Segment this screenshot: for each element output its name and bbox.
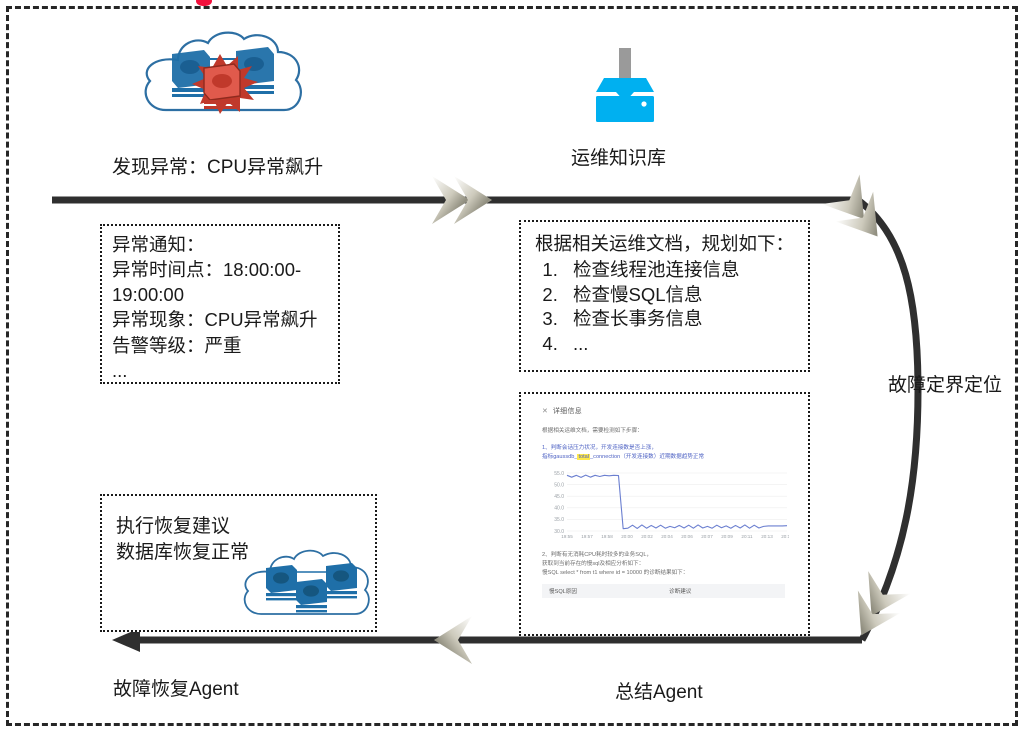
- svg-text:50.0: 50.0: [554, 483, 564, 489]
- alert-cloud-icon: [120, 26, 320, 146]
- plan-item: 检查线程池连接信息: [563, 258, 808, 283]
- alert-line-5: 告警等级：严重: [112, 333, 330, 358]
- svg-text:20:07: 20:07: [701, 534, 713, 539]
- svg-text:19:58: 19:58: [601, 534, 613, 539]
- detail-paragraph-3-line3: 慢SQL select * from t1 where id = 10000 的…: [542, 569, 802, 578]
- table-header-advice: 诊断建议: [669, 587, 691, 595]
- metric-highlight: total: [577, 454, 590, 460]
- connection-line-chart: 55.050.045.040.035.030.0 19:5519:5719:58…: [541, 469, 789, 543]
- svg-text:20:02: 20:02: [641, 534, 653, 539]
- svg-text:20:09: 20:09: [721, 534, 733, 539]
- detail-card-title: 详细信息: [553, 406, 582, 416]
- plan-list: 检查线程池连接信息 检查慢SQL信息 检查长事务信息 ...: [521, 258, 808, 356]
- svg-text:20:00: 20:00: [621, 534, 633, 539]
- svg-text:35.0: 35.0: [554, 517, 564, 523]
- alert-line-4: 异常现象：CPU异常飙升: [112, 307, 330, 332]
- recovery-box: 执行恢复建议 数据库恢复正常: [100, 494, 377, 632]
- alert-notification-box: 异常通知： 异常时间点：18:00:00- 19:00:00 异常现象：CPU异…: [100, 224, 340, 384]
- detail-screenshot-card[interactable]: ✕ 详细信息 根据相关运维文档，需要检测如下步骤： 1、判断会话压力状况，开发连…: [519, 392, 810, 636]
- recovery-line-2: 数据库恢复正常: [116, 540, 375, 566]
- svg-text:20:11: 20:11: [741, 534, 753, 539]
- stage-detect-label: 发现异常：CPU异常飙升: [112, 152, 323, 179]
- slow-sql-table-header: 慢SQL原因 诊断建议: [542, 584, 785, 598]
- metric-prefix: 指标gaussdb_: [542, 454, 577, 460]
- chart-series-line: [567, 475, 787, 529]
- detail-paragraph-3-line1: 2、判断有无消耗CPU耗时较多的业务SQL，: [542, 551, 802, 560]
- svg-text:40.0: 40.0: [554, 506, 564, 512]
- alert-line-1: 异常通知：: [112, 232, 330, 257]
- alert-line-3: 19:00:00: [112, 282, 330, 307]
- detail-paragraph-3-line2: 获取到当前存在的慢sql及相应分析如下：: [542, 560, 802, 569]
- metric-suffix: _connection（开发连接数）近期数据趋势正常: [590, 454, 704, 460]
- svg-text:20:13: 20:13: [761, 534, 773, 539]
- detail-paragraph-3: 2、判断有无消耗CPU耗时较多的业务SQL， 获取到当前存在的慢sql及相应分析…: [542, 551, 802, 577]
- detail-paragraph-2-line2: 指标gaussdb_total_connection（开发连接数）近期数据趋势正…: [542, 453, 802, 462]
- svg-text:20:06: 20:06: [681, 534, 693, 539]
- stage-summary-label: 总结Agent: [615, 677, 703, 704]
- svg-text:19:55: 19:55: [561, 534, 573, 539]
- chart-x-tick-labels: 19:5519:5719:5820:0020:0220:0420:0620:07…: [561, 534, 789, 539]
- plan-item: 检查慢SQL信息: [563, 283, 808, 308]
- table-header-cause: 慢SQL原因: [549, 587, 669, 595]
- plan-title: 根据相关运维文档，规划如下：: [521, 222, 808, 256]
- svg-text:45.0: 45.0: [554, 494, 564, 500]
- detail-card-header: ✕ 详细信息: [542, 406, 802, 416]
- plan-box: 根据相关运维文档，规划如下： 检查线程池连接信息 检查慢SQL信息 检查长事务信…: [519, 220, 810, 372]
- chart-y-tick-labels: 55.050.045.040.035.030.0: [554, 471, 564, 535]
- svg-text:20:14: 20:14: [781, 534, 789, 539]
- stage-kb-label: 运维知识库: [571, 143, 666, 170]
- svg-text:55.0: 55.0: [554, 471, 564, 477]
- detail-paragraph-2-line1: 1、判断会话压力状况，开发连接数是否上涨，: [542, 444, 802, 453]
- alert-line-6: ...: [112, 358, 330, 383]
- detail-paragraph-2: 1、判断会话压力状况，开发连接数是否上涨， 指标gaussdb_total_co…: [542, 444, 802, 462]
- chart-gridlines: [567, 473, 787, 531]
- stage-recover-label: 故障恢复Agent: [113, 674, 239, 701]
- plan-item: 检查长事务信息: [563, 307, 808, 332]
- recovery-line-1: 执行恢复建议: [116, 514, 375, 540]
- close-icon[interactable]: ✕: [542, 408, 548, 415]
- svg-text:19:57: 19:57: [581, 534, 593, 539]
- detail-paragraph-1: 根据相关运维文档，需要检测如下步骤：: [542, 427, 802, 435]
- svg-text:20:04: 20:04: [661, 534, 673, 539]
- stage-locate-label: 故障定界定位: [888, 370, 1002, 397]
- plan-item: ...: [563, 332, 808, 357]
- alert-line-2: 异常时间点：18:00:00-: [112, 257, 330, 282]
- knowledge-base-icon: [578, 40, 672, 134]
